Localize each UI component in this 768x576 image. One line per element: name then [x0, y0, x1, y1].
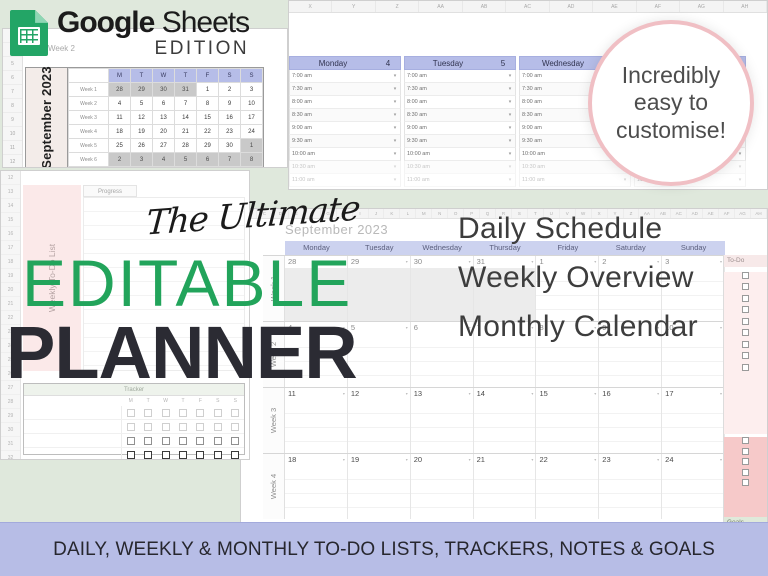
tracker-checkbox[interactable]: [231, 423, 239, 431]
feature-item-2: Monthly Calendar: [458, 303, 698, 352]
time-slot[interactable]: 7:30 am▾: [404, 83, 516, 96]
mini-week-row[interactable]: Week 245678910: [69, 97, 263, 111]
bottom-banner: DAILY, WEEKLY & MONTHLY TO-DO LISTS, TRA…: [0, 522, 768, 576]
month-day-cell[interactable]: [662, 466, 725, 519]
mini-dow-header: F: [197, 69, 219, 83]
tracker-dow-header: F: [192, 396, 209, 406]
chevron-down-icon[interactable]: ▾: [390, 135, 400, 147]
time-slot[interactable]: 8:30 am▾: [404, 109, 516, 122]
tracker-checkbox[interactable]: [196, 437, 204, 445]
month-day-cell[interactable]: [411, 466, 474, 519]
feature-list: Daily ScheduleWeekly OverviewMonthly Cal…: [458, 205, 698, 352]
month-date-cell[interactable]: 20: [411, 454, 474, 466]
month-day-cell[interactable]: [348, 268, 411, 321]
column-letter[interactable]: Z: [376, 1, 419, 12]
column-letter[interactable]: AE: [703, 209, 719, 218]
tracker-cell[interactable]: [192, 448, 209, 460]
tracker-cell[interactable]: [227, 406, 244, 419]
row-number: 28: [1, 395, 20, 409]
month-day-cell[interactable]: [662, 400, 725, 453]
tracker-checkbox[interactable]: [179, 437, 187, 445]
month-day-cell[interactable]: [599, 400, 662, 453]
month-week-row[interactable]: Week 418192021222324: [263, 453, 725, 519]
time-slot[interactable]: 8:00 am▾: [404, 96, 516, 109]
tracker-checkbox[interactable]: [179, 423, 187, 431]
todo-checkbox[interactable]: [742, 437, 749, 444]
month-day-cell[interactable]: [474, 466, 537, 519]
row-number: 10: [3, 127, 22, 141]
mini-day-cell[interactable]: 28: [109, 83, 131, 97]
mini-day-cell[interactable]: 30: [219, 139, 241, 153]
slot-entry[interactable]: [322, 161, 390, 173]
month-day-cell[interactable]: [285, 400, 348, 453]
mini-day-cell[interactable]: 4: [153, 153, 175, 167]
month-week-label-text: Week 4: [269, 474, 278, 499]
tracker-dow-header: W: [157, 396, 174, 406]
todo-checkbox[interactable]: [742, 364, 749, 371]
mini-day-cell[interactable]: 4: [109, 97, 131, 111]
row-number: 9: [3, 113, 22, 127]
tracker-checkbox[interactable]: [231, 409, 239, 417]
month-week-row[interactable]: Week 311121314151617: [263, 387, 725, 453]
tracker-cell[interactable]: [139, 448, 156, 460]
tracker-row-label[interactable]: [24, 406, 122, 419]
mini-day-cell[interactable]: 11: [109, 111, 131, 125]
tracker-checkbox[interactable]: [162, 451, 170, 459]
tracker-checkbox[interactable]: [214, 451, 222, 459]
slot-time: 10:00 am: [520, 148, 552, 160]
mini-dow-header: S: [219, 69, 241, 83]
mini-day-cell[interactable]: 28: [175, 139, 197, 153]
tracker-cell[interactable]: [139, 420, 156, 433]
tracker-cell[interactable]: [192, 420, 209, 433]
mini-day-cell[interactable]: 24: [241, 125, 263, 139]
slot-time: 11:00 am: [290, 174, 322, 186]
slot-entry[interactable]: [437, 70, 505, 82]
mini-day-cell[interactable]: 27: [153, 139, 175, 153]
slot-time: 9:00 am: [290, 122, 322, 134]
tracker-checkbox[interactable]: [179, 451, 187, 459]
chevron-down-icon[interactable]: ▾: [390, 161, 400, 173]
month-date-cell[interactable]: 5: [348, 322, 411, 334]
slot-time: 7:30 am: [290, 83, 322, 95]
mini-day-cell[interactable]: 21: [175, 125, 197, 139]
slot-entry[interactable]: [322, 135, 390, 147]
column-letter[interactable]: X: [289, 1, 332, 12]
time-slot[interactable]: 8:30 am▾: [289, 109, 401, 122]
mini-day-cell[interactable]: 16: [219, 111, 241, 125]
month-date-cell[interactable]: 16: [599, 388, 662, 400]
mini-dow-header: T: [175, 69, 197, 83]
column-letter[interactable]: AG: [735, 209, 751, 218]
column-letter[interactable]: AB: [463, 1, 506, 12]
mini-day-cell[interactable]: 3: [131, 153, 153, 167]
time-slot[interactable]: 7:00 am▾: [404, 70, 516, 83]
month-date-cell[interactable]: 13: [411, 388, 474, 400]
mini-day-cell[interactable]: 31: [175, 83, 197, 97]
tracker-checkbox[interactable]: [144, 451, 152, 459]
day-header[interactable]: Monday4: [289, 56, 401, 70]
tracker-cell[interactable]: [209, 434, 226, 447]
slot-entry[interactable]: [437, 174, 505, 186]
tracker-cell[interactable]: [157, 420, 174, 433]
tracker-checkbox[interactable]: [162, 423, 170, 431]
tracker-cell[interactable]: [174, 434, 191, 447]
day-column[interactable]: Tuesday57:00 am▾7:30 am▾8:00 am▾8:30 am▾…: [404, 56, 516, 187]
slot-time: 10:30 am: [290, 161, 322, 173]
todo-checkbox[interactable]: [742, 479, 749, 486]
time-slot[interactable]: 7:30 am▾: [289, 83, 401, 96]
tracker-row[interactable]: [24, 448, 244, 460]
tracker-checkbox[interactable]: [127, 437, 135, 445]
todo-checkbox[interactable]: [742, 295, 749, 302]
time-slot[interactable]: 7:00 am▾: [289, 70, 401, 83]
month-day-cell[interactable]: [536, 466, 599, 519]
slot-entry[interactable]: [322, 174, 390, 186]
time-slot[interactable]: 11:00 am▾: [519, 174, 631, 187]
chevron-down-icon[interactable]: ▾: [505, 96, 515, 108]
slot-entry[interactable]: [322, 70, 390, 82]
month-date-cell[interactable]: 23: [599, 454, 662, 466]
slot-entry[interactable]: [437, 161, 505, 173]
month-date-cell[interactable]: 29: [348, 256, 411, 268]
todo-checkbox[interactable]: [742, 341, 749, 348]
tracker-checkbox[interactable]: [144, 423, 152, 431]
chevron-down-icon[interactable]: ▾: [735, 161, 745, 173]
mini-day-cell[interactable]: 2: [109, 153, 131, 167]
column-letter[interactable]: AH: [724, 1, 767, 12]
month-date-cell[interactable]: 12: [348, 388, 411, 400]
tracker-checkboxes[interactable]: [122, 406, 244, 419]
chevron-down-icon[interactable]: ▾: [505, 135, 515, 147]
column-letter[interactable]: AD: [550, 1, 593, 12]
todo-checkbox[interactable]: [742, 318, 749, 325]
todo-checkbox[interactable]: [742, 272, 749, 279]
month-date-cell[interactable]: 17: [662, 388, 725, 400]
mini-week-row[interactable]: Week 62345678: [69, 153, 263, 167]
headline-editable: EDITABLE: [22, 250, 352, 316]
month-date-cell[interactable]: 18: [285, 454, 348, 466]
tracker-checkbox[interactable]: [127, 451, 135, 459]
tracker-cell[interactable]: [227, 448, 244, 460]
slot-entry[interactable]: [552, 174, 620, 186]
tracker-cell[interactable]: [139, 406, 156, 419]
mini-day-cell[interactable]: 8: [241, 153, 263, 167]
tracker-row[interactable]: [24, 420, 244, 434]
todo-checklist-deep[interactable]: [724, 437, 767, 517]
tracker-cell[interactable]: [157, 434, 174, 447]
chevron-down-icon[interactable]: ▾: [390, 109, 400, 121]
slot-time: 10:00 am: [290, 148, 322, 160]
mini-day-cell[interactable]: 7: [175, 97, 197, 111]
mini-day-cell[interactable]: 30: [153, 83, 175, 97]
month-date-cell[interactable]: 22: [536, 454, 599, 466]
tracker-row[interactable]: [24, 434, 244, 448]
slot-entry[interactable]: [322, 148, 390, 160]
tracker-cell[interactable]: [174, 420, 191, 433]
month-dow-header: Tuesday: [348, 241, 411, 255]
slot-time: 7:00 am: [290, 70, 322, 82]
month-day-cell[interactable]: [411, 400, 474, 453]
chevron-down-icon[interactable]: ▾: [505, 161, 515, 173]
mini-week-row[interactable]: Week 128293031123: [69, 83, 263, 97]
mini-day-cell[interactable]: 7: [219, 153, 241, 167]
mini-day-cell[interactable]: 1: [241, 139, 263, 153]
tracker-cell[interactable]: [174, 448, 191, 460]
time-slot[interactable]: 10:30 am▾: [289, 161, 401, 174]
month-day-cell[interactable]: [348, 466, 411, 519]
tracker-checkbox[interactable]: [196, 423, 204, 431]
todo-checkbox[interactable]: [742, 283, 749, 290]
mini-day-cell[interactable]: 23: [219, 125, 241, 139]
tracker-row-label[interactable]: [24, 434, 122, 447]
time-slot[interactable]: 11:00 am▾: [404, 174, 516, 187]
mini-day-cell[interactable]: 25: [109, 139, 131, 153]
tracker-cell[interactable]: [122, 406, 139, 419]
tracker-checkbox[interactable]: [214, 423, 222, 431]
slot-entry[interactable]: [322, 96, 390, 108]
mini-day-cell[interactable]: 6: [153, 97, 175, 111]
mini-day-cell[interactable]: 14: [175, 111, 197, 125]
chevron-down-icon[interactable]: ▾: [390, 70, 400, 82]
chevron-down-icon[interactable]: ▾: [505, 83, 515, 95]
month-date-cell[interactable]: 21: [474, 454, 537, 466]
chevron-down-icon[interactable]: ▾: [390, 96, 400, 108]
badge-line-2: easy to: [634, 89, 708, 116]
row-number: 5: [3, 57, 22, 71]
todo-checkbox[interactable]: [742, 306, 749, 313]
chevron-down-icon[interactable]: ▾: [505, 109, 515, 121]
month-day-cell[interactable]: [348, 400, 411, 453]
tracker-checkbox[interactable]: [144, 437, 152, 445]
tracker-checkbox[interactable]: [231, 451, 239, 459]
mini-month-text: September 2023: [39, 66, 54, 168]
slot-entry[interactable]: [322, 109, 390, 121]
mini-day-cell[interactable]: 1: [197, 83, 219, 97]
todo-checkbox[interactable]: [742, 448, 749, 455]
chevron-down-icon[interactable]: ▾: [390, 174, 400, 186]
tracker-cell[interactable]: [227, 434, 244, 447]
todo-checkbox[interactable]: [742, 469, 749, 476]
slot-time: 10:30 am: [520, 161, 552, 173]
tracker-cell[interactable]: [122, 434, 139, 447]
todo-checklist-light[interactable]: [724, 272, 767, 434]
mini-day-cell[interactable]: 10: [241, 97, 263, 111]
todo-checkbox[interactable]: [742, 329, 749, 336]
column-letter[interactable]: AE: [593, 1, 636, 12]
month-week-label-text: Week 3: [269, 408, 278, 433]
time-slot[interactable]: 10:00 am▾: [404, 148, 516, 161]
mini-day-cell[interactable]: 19: [131, 125, 153, 139]
tracker-row-label[interactable]: [24, 420, 122, 433]
mini-week-label: Week 5: [69, 139, 109, 153]
time-slot[interactable]: 8:00 am▾: [289, 96, 401, 109]
tracker-checkbox[interactable]: [196, 409, 204, 417]
slot-entry[interactable]: [437, 122, 505, 134]
column-letter[interactable]: N: [432, 209, 448, 218]
time-slot[interactable]: 11:00 am▾: [289, 174, 401, 187]
month-date-cell[interactable]: 14: [474, 388, 537, 400]
row-number: 11: [3, 141, 22, 155]
column-letter[interactable]: AF: [719, 209, 735, 218]
slot-time: 9:30 am: [405, 135, 437, 147]
tracker-cell[interactable]: [122, 420, 139, 433]
slot-entry[interactable]: [437, 109, 505, 121]
tracker-cell[interactable]: [209, 420, 226, 433]
chevron-down-icon[interactable]: ▾: [390, 83, 400, 95]
slot-entry[interactable]: [437, 83, 505, 95]
tracker-checkbox[interactable]: [231, 437, 239, 445]
chevron-down-icon[interactable]: ▾: [505, 174, 515, 186]
mini-day-cell[interactable]: 8: [197, 97, 219, 111]
day-column[interactable]: Monday47:00 am▾7:30 am▾8:00 am▾8:30 am▾9…: [289, 56, 401, 187]
tracker-checkbox[interactable]: [214, 437, 222, 445]
column-letter[interactable]: AA: [419, 1, 462, 12]
column-letter[interactable]: AF: [637, 1, 680, 12]
slot-entry[interactable]: [552, 161, 620, 173]
tracker-cell[interactable]: [174, 406, 191, 419]
mini-day-cell[interactable]: 9: [219, 97, 241, 111]
slot-entry[interactable]: [322, 83, 390, 95]
chevron-down-icon[interactable]: ▾: [735, 174, 745, 186]
time-slot[interactable]: 10:00 am▾: [289, 148, 401, 161]
slot-time: 8:30 am: [405, 109, 437, 121]
todo-checkbox[interactable]: [742, 352, 749, 359]
mini-day-cell[interactable]: 26: [131, 139, 153, 153]
tracker-cell[interactable]: [157, 448, 174, 460]
month-week-body: [285, 400, 725, 453]
column-letter[interactable]: AG: [680, 1, 723, 12]
headline-planner: PLANNER: [6, 316, 357, 390]
mini-week-row[interactable]: Week 311121314151617: [69, 111, 263, 125]
month-day-cell[interactable]: [285, 466, 348, 519]
mini-day-cell[interactable]: 29: [197, 139, 219, 153]
month-day-cell[interactable]: [536, 400, 599, 453]
tracker-cell[interactable]: [227, 420, 244, 433]
row-number: 19: [1, 269, 20, 283]
chevron-down-icon[interactable]: ▾: [505, 122, 515, 134]
tracker-checkbox[interactable]: [127, 409, 135, 417]
month-day-cell[interactable]: [348, 334, 411, 387]
tracker-checkbox[interactable]: [196, 451, 204, 459]
tracker-cell[interactable]: [122, 448, 139, 460]
tracker-dow-header: T: [174, 396, 191, 406]
tracker-row[interactable]: [24, 406, 244, 420]
column-letter[interactable]: K: [384, 209, 400, 218]
slot-time: 9:30 am: [290, 135, 322, 147]
day-name: Tuesday: [405, 57, 491, 69]
tracker-dow-header: M: [122, 396, 139, 406]
todo-goals-column[interactable]: To-Do Goals: [723, 255, 767, 527]
month-day-cell[interactable]: [599, 466, 662, 519]
column-letter[interactable]: AC: [506, 1, 549, 12]
row-number: 17: [1, 241, 20, 255]
mini-day-cell[interactable]: 3: [241, 83, 263, 97]
tracker-checkbox[interactable]: [179, 409, 187, 417]
tracker-checkbox[interactable]: [214, 409, 222, 417]
row-number: 14: [1, 199, 20, 213]
chevron-down-icon[interactable]: ▾: [390, 122, 400, 134]
time-slot[interactable]: 9:00 am▾: [404, 122, 516, 135]
brand-edition: EDITION: [155, 39, 250, 58]
mini-day-cell[interactable]: 15: [197, 111, 219, 125]
column-letter[interactable]: L: [400, 209, 416, 218]
mini-day-cell[interactable]: 5: [175, 153, 197, 167]
tracker-cell[interactable]: [192, 406, 209, 419]
brand-word-google: Google: [57, 6, 154, 39]
tracker-checkboxes[interactable]: [122, 448, 244, 460]
month-date-cell[interactable]: 15: [536, 388, 599, 400]
slot-entry[interactable]: [437, 96, 505, 108]
mini-day-cell[interactable]: 29: [131, 83, 153, 97]
mini-day-cell[interactable]: 17: [241, 111, 263, 125]
time-slot[interactable]: 9:30 am▾: [289, 135, 401, 148]
mini-day-cell[interactable]: 12: [131, 111, 153, 125]
chevron-down-icon[interactable]: ▾: [390, 148, 400, 160]
time-slot[interactable]: 10:30 am▾: [404, 161, 516, 174]
month-week-label: Week 3: [263, 388, 285, 453]
tracker-checkboxes[interactable]: [122, 434, 244, 447]
todo-checkbox[interactable]: [742, 458, 749, 465]
tracker-checkbox[interactable]: [127, 423, 135, 431]
slot-entry[interactable]: [322, 122, 390, 134]
tracker-cell[interactable]: [209, 406, 226, 419]
tracker-checkboxes[interactable]: [122, 420, 244, 433]
column-letter[interactable]: AH: [751, 209, 767, 218]
brand-word-sheets: Sheets: [162, 6, 249, 39]
mini-calendar-grid[interactable]: MTWTFSSWeek 128293031123Week 245678910We…: [68, 68, 263, 167]
chevron-down-icon[interactable]: ▾: [505, 70, 515, 82]
mini-week-row[interactable]: Week 52526272829301: [69, 139, 263, 153]
day-number: 4: [376, 57, 400, 69]
mini-day-cell[interactable]: 6: [197, 153, 219, 167]
tracker-cell[interactable]: [139, 434, 156, 447]
time-slot[interactable]: 9:30 am▾: [404, 135, 516, 148]
mini-week-label: Week 6: [69, 153, 109, 167]
tracker-cell[interactable]: [192, 434, 209, 447]
column-letter[interactable]: M: [416, 209, 432, 218]
slot-time: 7:30 am: [520, 83, 552, 95]
column-letter[interactable]: J: [369, 209, 385, 218]
tracker-checkbox[interactable]: [144, 409, 152, 417]
time-slot[interactable]: 9:00 am▾: [289, 122, 401, 135]
mini-day-cell[interactable]: 22: [197, 125, 219, 139]
slot-entry[interactable]: [437, 135, 505, 147]
tracker-cell[interactable]: [209, 448, 226, 460]
mini-day-cell[interactable]: 13: [153, 111, 175, 125]
chevron-down-icon[interactable]: ▾: [620, 174, 630, 186]
mini-day-cell[interactable]: 18: [109, 125, 131, 139]
tracker-row-label[interactable]: [24, 448, 122, 460]
tracker-checkbox[interactable]: [162, 409, 170, 417]
mini-day-cell[interactable]: 5: [131, 97, 153, 111]
month-day-cell[interactable]: [474, 400, 537, 453]
slot-entry[interactable]: [437, 148, 505, 160]
row-number: 12: [1, 171, 20, 185]
chevron-down-icon[interactable]: ▾: [505, 148, 515, 160]
column-letter[interactable]: Y: [332, 1, 375, 12]
mini-week-row[interactable]: Week 418192021222324: [69, 125, 263, 139]
tracker-checkbox[interactable]: [162, 437, 170, 445]
month-date-cell[interactable]: 24: [662, 454, 725, 466]
promo-badge: Incredibly easy to customise!: [588, 20, 754, 186]
tracker-cell[interactable]: [157, 406, 174, 419]
month-date-cell[interactable]: 19: [348, 454, 411, 466]
mini-day-cell[interactable]: 2: [219, 83, 241, 97]
mini-month-calendar[interactable]: September 2023 MTWTFSSWeek 128293031123W…: [25, 67, 264, 168]
day-header[interactable]: Tuesday5: [404, 56, 516, 70]
mini-day-cell[interactable]: 20: [153, 125, 175, 139]
